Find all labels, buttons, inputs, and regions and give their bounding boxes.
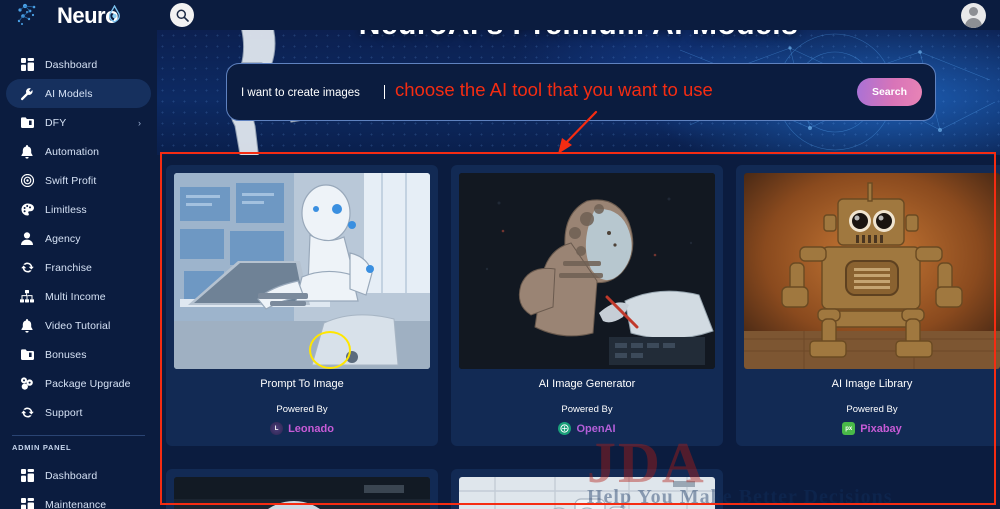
sidebar-item-swift-profit[interactable]: Swift Profit	[6, 166, 151, 195]
refresh-icon	[18, 260, 36, 276]
avatar[interactable]	[961, 3, 986, 28]
card-title: Prompt To Image	[174, 378, 430, 390]
card-powered-label: Powered By	[744, 404, 1000, 415]
sidebar-item-label: Support	[45, 407, 82, 419]
card-brand: px Pixabay	[744, 422, 1000, 435]
ai-model-card[interactable]: AI Image Generator Powered By OpenAI	[451, 165, 723, 446]
wrench-icon	[18, 86, 36, 102]
sidebar-item-admin-dashboard[interactable]: Dashboard	[6, 461, 151, 490]
search-button[interactable]: Search	[857, 78, 922, 106]
brand-logo[interactable]: Neuro	[0, 0, 157, 34]
search-input-wrap	[241, 83, 383, 101]
cyborg-writing-image	[459, 173, 715, 369]
sidebar-item-label: Dashboard	[45, 59, 97, 71]
ai-models-card-grid-row2	[157, 459, 1000, 509]
sidebar-item-label: Video Tutorial	[45, 320, 110, 332]
pixabay-icon: px	[842, 422, 855, 435]
sidebar-item-agency[interactable]: Agency	[6, 224, 151, 253]
sidebar-item-support[interactable]: Support	[6, 398, 151, 427]
card-brand-name: Leonado	[288, 423, 334, 435]
sidebar-item-bonuses[interactable]: Bonuses	[6, 340, 151, 369]
sidebar-item-label: Swift Profit	[45, 175, 96, 187]
sidebar-item-label: DFY	[45, 117, 66, 129]
refresh-icon	[18, 405, 36, 421]
sidebar-item-admin-maintenance[interactable]: Maintenance	[6, 490, 151, 509]
sidebar-nav: Dashboard AI Models DFY › Automation	[0, 50, 157, 509]
app-root: Neuro Dashboard AI Models	[0, 0, 1000, 509]
ai-models-grid-container: Prompt To Image Powered By L Leonado	[157, 155, 1000, 509]
topbar	[157, 0, 1000, 30]
card-powered-label: Powered By	[174, 404, 430, 415]
annotation-instruction: choose the AI tool that you want to use	[395, 79, 713, 101]
magnifier-glyph	[176, 9, 189, 22]
sidebar: Neuro Dashboard AI Models	[0, 0, 157, 509]
grid-icon	[18, 468, 36, 484]
ai-model-card[interactable]	[166, 469, 438, 509]
sidebar-item-label: Dashboard	[45, 470, 97, 482]
sidebar-item-label: Agency	[45, 233, 81, 245]
ai-model-card[interactable]	[451, 469, 723, 509]
card-powered-label: Powered By	[459, 404, 715, 415]
sidebar-item-franchise[interactable]: Franchise	[6, 253, 151, 282]
sidebar-item-dashboard[interactable]: Dashboard	[6, 50, 151, 79]
card-brand-name: OpenAI	[576, 423, 615, 435]
sidebar-item-limitless[interactable]: Limitless	[6, 195, 151, 224]
sitemap-icon	[18, 289, 36, 305]
card-title: AI Image Generator	[459, 378, 715, 390]
bell-icon	[18, 144, 36, 160]
folder-icon	[18, 115, 36, 131]
white-lab-robot-image	[459, 477, 715, 509]
openai-icon	[558, 422, 571, 435]
search-input[interactable]	[241, 87, 383, 99]
chevron-right-icon: ›	[138, 118, 141, 128]
avatar-head-shape	[969, 7, 978, 16]
ai-model-card[interactable]: Prompt To Image Powered By L Leonado	[166, 165, 438, 446]
sidebar-section-admin-panel: ADMIN PANEL	[0, 443, 157, 452]
sidebar-item-label: Package Upgrade	[45, 378, 131, 390]
sidebar-item-label: Bonuses	[45, 349, 87, 361]
sidebar-item-label: AI Models	[45, 88, 93, 100]
page-title: NeuroAI's Premium AI Models	[157, 30, 1000, 42]
search-icon[interactable]	[170, 3, 194, 27]
leonado-icon: L	[270, 422, 283, 435]
sidebar-divider	[12, 435, 145, 436]
grid-icon	[18, 497, 36, 509]
card-brand-name: Pixabay	[860, 423, 902, 435]
person-icon	[18, 231, 36, 247]
sidebar-item-automation[interactable]: Automation	[6, 137, 151, 166]
vintage-robot-image	[744, 173, 1000, 369]
palette-icon	[18, 202, 36, 218]
folder-icon	[18, 347, 36, 363]
sidebar-item-label: Automation	[45, 146, 99, 158]
robot-at-laptop-image	[174, 173, 430, 369]
card-brand: OpenAI	[459, 422, 715, 435]
grid-icon	[18, 57, 36, 73]
cubes-icon	[18, 376, 36, 392]
ai-model-card[interactable]: AI Image Library Powered By px Pixabay	[736, 165, 1000, 446]
avatar-body-shape	[965, 18, 982, 28]
bell-icon	[18, 318, 36, 334]
sidebar-item-multi-income[interactable]: Multi Income	[6, 282, 151, 311]
sidebar-item-video-tutorial[interactable]: Video Tutorial	[6, 311, 151, 340]
sidebar-item-label: Multi Income	[45, 291, 106, 303]
annotation-arrow-icon	[552, 110, 602, 156]
card-brand: L Leonado	[174, 422, 430, 435]
sidebar-item-dfy[interactable]: DFY ›	[6, 108, 151, 137]
dark-robot-image	[174, 477, 430, 509]
sidebar-item-label: Maintenance	[45, 499, 106, 509]
sidebar-item-label: Franchise	[45, 262, 92, 274]
target-icon	[18, 173, 36, 189]
ai-models-card-grid: Prompt To Image Powered By L Leonado	[157, 155, 1000, 446]
brand-droplet-icon	[108, 5, 121, 25]
sidebar-item-package-upgrade[interactable]: Package Upgrade	[6, 369, 151, 398]
card-title: AI Image Library	[744, 378, 1000, 390]
text-caret	[384, 85, 385, 99]
sidebar-item-ai-models[interactable]: AI Models	[6, 79, 151, 108]
sidebar-item-label: Limitless	[45, 204, 87, 216]
neuro-network-logo-icon	[16, 2, 48, 30]
